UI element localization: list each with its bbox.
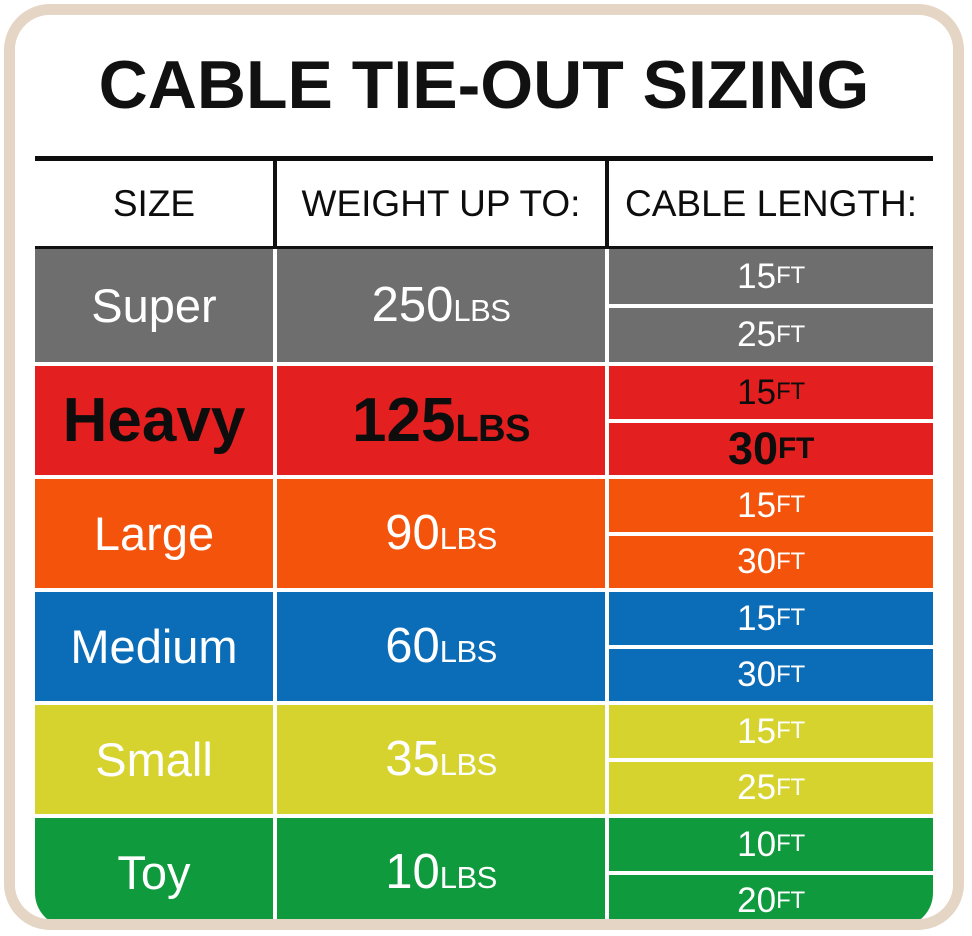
cable-length-number: 15 — [737, 375, 776, 410]
cable-length-unit: FT — [776, 887, 805, 915]
cable-length-number: 25 — [737, 317, 776, 352]
cable-length-number: 30 — [737, 657, 776, 692]
cable-length-stack: 15FT25FT — [609, 705, 933, 814]
cable-length-number: 15 — [737, 714, 776, 749]
poster-frame: CABLE TIE-OUT SIZING SIZE WEIGHT UP TO: … — [4, 4, 964, 930]
weight-unit: LBS — [440, 521, 497, 556]
cable-length-unit: FT — [776, 548, 805, 576]
cell-size: Large — [35, 479, 273, 588]
cable-length-stack: 15FT30FT — [609, 592, 933, 701]
cable-length-number: 15 — [737, 601, 776, 636]
cable-length-option: 20FT — [609, 871, 933, 920]
cell-cable-length: 10FT20FT — [605, 818, 933, 919]
cell-cable-length: 15FT25FT — [605, 249, 933, 362]
cable-length-stack: 15FT30FT — [609, 366, 933, 475]
cable-length-number: 20 — [737, 883, 776, 918]
cable-length-number: 15 — [737, 488, 776, 523]
cable-length-option: 15FT — [609, 366, 933, 419]
weight-number: 250 — [372, 278, 454, 332]
size-label: Heavy — [63, 390, 246, 452]
size-label: Super — [91, 282, 216, 329]
sizing-table: SIZE WEIGHT UP TO: CABLE LENGTH: Super25… — [35, 156, 933, 919]
page-title: CABLE TIE-OUT SIZING — [15, 33, 953, 137]
cable-length-unit: FT — [776, 717, 805, 745]
weight-unit: LBS — [453, 293, 510, 328]
cable-length-number: 10 — [737, 827, 776, 862]
cable-length-option: 25FT — [609, 304, 933, 363]
weight-value-group: 10LBS — [385, 848, 497, 897]
cable-length-number: 30 — [728, 426, 778, 471]
cell-size: Heavy — [35, 366, 273, 475]
cell-weight: 250LBS — [273, 249, 605, 362]
cable-length-unit: FT — [776, 262, 805, 290]
cell-size: Super — [35, 249, 273, 362]
cable-length-option: 30FT — [609, 419, 933, 476]
table-body: Super250LBS15FT25FTHeavy125LBS15FT30FTLa… — [35, 249, 933, 919]
cable-length-stack: 15FT25FT — [609, 249, 933, 362]
cable-length-option: 30FT — [609, 645, 933, 702]
cable-length-stack: 10FT20FT — [609, 818, 933, 919]
cable-length-option: 25FT — [609, 758, 933, 815]
size-label: Toy — [117, 849, 190, 896]
poster-card: CABLE TIE-OUT SIZING SIZE WEIGHT UP TO: … — [15, 15, 953, 919]
table-row: Small35LBS15FT25FT — [35, 701, 933, 814]
cable-length-option: 15FT — [609, 249, 933, 304]
cable-length-unit: FT — [776, 830, 805, 858]
cell-weight: 35LBS — [273, 705, 605, 814]
cable-length-unit: FT — [776, 491, 805, 519]
weight-number: 90 — [385, 506, 440, 560]
cable-length-option: 15FT — [609, 592, 933, 645]
cable-length-number: 30 — [737, 544, 776, 579]
weight-value-group: 125LBS — [352, 390, 530, 452]
cell-size: Toy — [35, 818, 273, 919]
weight-unit: LBS — [440, 860, 497, 895]
weight-number: 125 — [352, 386, 455, 455]
weight-value-group: 250LBS — [372, 281, 511, 330]
cable-length-number: 25 — [737, 770, 776, 805]
cell-weight: 60LBS — [273, 592, 605, 701]
size-label: Large — [94, 510, 214, 557]
cell-cable-length: 15FT30FT — [605, 592, 933, 701]
weight-value-group: 90LBS — [385, 509, 497, 558]
weight-value-group: 35LBS — [385, 735, 497, 784]
cable-length-option: 15FT — [609, 705, 933, 758]
cable-length-unit: FT — [776, 321, 805, 349]
table-row: Heavy125LBS15FT30FT — [35, 362, 933, 475]
cable-length-unit: FT — [776, 378, 805, 406]
table-header-row: SIZE WEIGHT UP TO: CABLE LENGTH: — [35, 161, 933, 249]
cell-weight: 90LBS — [273, 479, 605, 588]
cable-length-unit: FT — [776, 661, 805, 689]
column-header-weight: WEIGHT UP TO: — [273, 161, 605, 246]
weight-unit: LBS — [440, 634, 497, 669]
cell-size: Small — [35, 705, 273, 814]
table-row: Large90LBS15FT30FT — [35, 475, 933, 588]
column-header-length: CABLE LENGTH: — [605, 161, 933, 246]
column-header-size: SIZE — [35, 161, 273, 246]
cell-cable-length: 15FT30FT — [605, 479, 933, 588]
weight-number: 10 — [385, 845, 440, 899]
weight-value-group: 60LBS — [385, 622, 497, 671]
cable-length-unit: FT — [776, 774, 805, 802]
cable-length-option: 15FT — [609, 479, 933, 532]
cable-length-unit: FT — [776, 604, 805, 632]
size-label: Medium — [70, 623, 237, 670]
weight-number: 60 — [385, 619, 440, 673]
table-row: Toy10LBS10FT20FT — [35, 814, 933, 919]
table-row: Super250LBS15FT25FT — [35, 249, 933, 362]
size-label: Small — [95, 736, 213, 783]
cell-weight: 10LBS — [273, 818, 605, 919]
cable-length-stack: 15FT30FT — [609, 479, 933, 588]
weight-unit: LBS — [455, 408, 530, 450]
cell-size: Medium — [35, 592, 273, 701]
cell-weight: 125LBS — [273, 366, 605, 475]
table-row: Medium60LBS15FT30FT — [35, 588, 933, 701]
cable-length-number: 15 — [737, 259, 776, 294]
cell-cable-length: 15FT25FT — [605, 705, 933, 814]
cable-length-unit: FT — [778, 432, 814, 466]
cable-length-option: 10FT — [609, 818, 933, 871]
cell-cable-length: 15FT30FT — [605, 366, 933, 475]
cable-length-option: 30FT — [609, 532, 933, 589]
weight-number: 35 — [385, 732, 440, 786]
weight-unit: LBS — [440, 747, 497, 782]
